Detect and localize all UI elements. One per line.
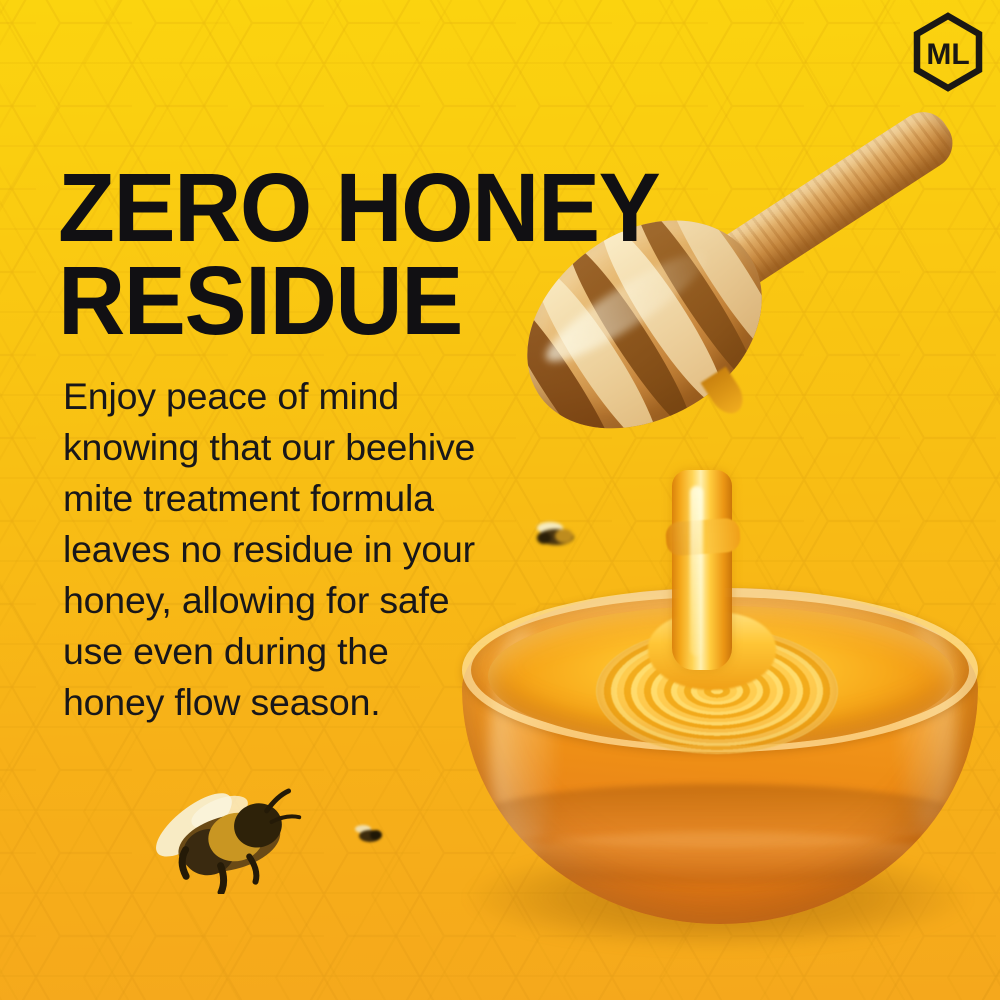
bee-icon	[352, 820, 386, 848]
honey-stream-highlight	[690, 486, 703, 656]
bowl-shadow	[468, 845, 968, 950]
body-paragraph: Enjoy peace of mind knowing that our bee…	[63, 371, 483, 728]
honey-swirl	[596, 628, 838, 754]
hexagon-ml-logo[interactable]: ML	[908, 12, 988, 92]
poster-canvas: ML ZERO HONEY RESIDUE Enjoy peace of min…	[0, 0, 1000, 1000]
bee-icon	[530, 518, 580, 552]
logo-text: ML	[926, 38, 969, 71]
dipper-drip	[701, 367, 750, 420]
honey-swirl-peak	[648, 612, 776, 690]
pouring-honey-icon	[672, 470, 732, 670]
honey-bowl-icon	[462, 588, 978, 924]
honey-stream-fold	[665, 517, 741, 556]
honey-surface	[488, 606, 954, 746]
page-title: ZERO HONEY RESIDUE	[58, 161, 759, 347]
bowl-rim	[462, 588, 978, 752]
bee-icon	[140, 782, 308, 894]
